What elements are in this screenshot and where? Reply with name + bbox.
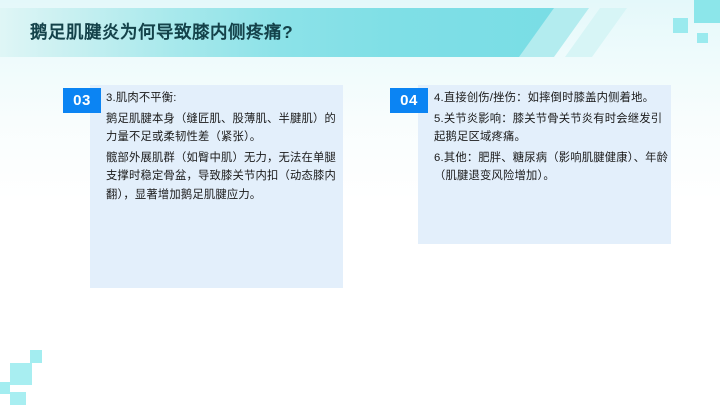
card-03-text: 3.肌肉不平衡: 鹅足肌腱本身（缝匠肌、股薄肌、半腱肌）的力量不足或柔韧性差（紧…	[106, 89, 342, 204]
decor-square-bottom-left-lower	[10, 392, 26, 405]
slide-root: 鹅足肌腱炎为何导致膝内侧疼痛? 03 3.肌肉不平衡: 鹅足肌腱本身（缝匠肌、股…	[0, 0, 720, 405]
decor-square-bottom-left-edge	[0, 382, 10, 394]
card-04-item-2: 5.关节炎影响：膝关节骨关节炎有时会继发引起鹅足区域疼痛。	[434, 110, 672, 147]
decor-square-bottom-left-small	[30, 350, 42, 363]
card-03-paragraph-2: 髋部外展肌群（如臀中肌）无力，无法在单腿支撑时稳定骨盆，导致膝关节内扣（动态膝内…	[106, 149, 342, 205]
card-04-text: 4.直接创伤/挫伤：如摔倒时膝盖内侧着地。 5.关节炎影响：膝关节骨关节炎有时会…	[434, 89, 672, 186]
card-03-number-badge: 03	[63, 88, 101, 113]
card-04-number-badge: 04	[390, 88, 428, 113]
card-04-item-1: 4.直接创伤/挫伤：如摔倒时膝盖内侧着地。	[434, 89, 672, 108]
card-03-paragraph-1: 鹅足肌腱本身（缝匠肌、股薄肌、半腱肌）的力量不足或柔韧性差（紧张）。	[106, 110, 342, 147]
decor-square-bottom-left-large	[10, 363, 32, 385]
decor-square-top-right-small	[697, 33, 708, 43]
page-title: 鹅足肌腱炎为何导致膝内侧疼痛?	[30, 18, 530, 46]
decor-square-top-right-large	[694, 0, 720, 23]
decor-square-top-right-medium	[673, 18, 688, 33]
card-03-heading: 3.肌肉不平衡:	[106, 89, 342, 108]
card-04-item-3: 6.其他：肥胖、糖尿病（影响肌腱健康）、年龄（肌腱退变风险增加）。	[434, 149, 672, 186]
